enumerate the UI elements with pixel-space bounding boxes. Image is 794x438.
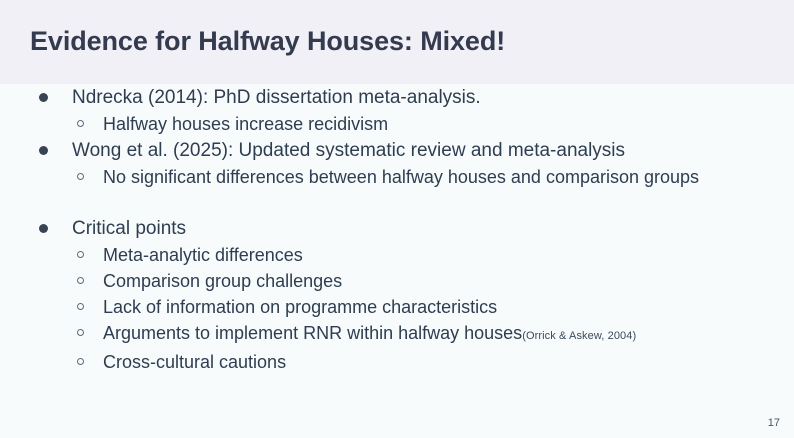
list-item: Critical points Meta-analytic difference… [0, 215, 794, 375]
list-item-label: No significant differences between halfw… [103, 167, 699, 187]
circle-bullet-icon [77, 303, 84, 310]
list-item-label: Arguments to implement RNR within halfwa… [103, 323, 522, 343]
circle-bullet-icon [77, 329, 84, 336]
circle-bullet-icon [77, 277, 84, 284]
page-title: Evidence for Halfway Houses: Mixed! [30, 26, 505, 57]
circle-bullet-icon [77, 358, 84, 365]
bullet-list-level1: Ndrecka (2014): PhD dissertation meta-an… [0, 84, 794, 375]
circle-bullet-icon [77, 173, 84, 180]
slide: Evidence for Halfway Houses: Mixed! Ndre… [0, 0, 794, 438]
list-item-label: Meta-analytic differences [103, 245, 303, 265]
list-item: Cross-cultural cautions [72, 349, 794, 375]
list-item: Halfway houses increase recidivism [72, 111, 794, 137]
bullet-list-level2: Halfway houses increase recidivism [72, 111, 794, 137]
list-item: Ndrecka (2014): PhD dissertation meta-an… [0, 84, 794, 137]
list-item-label: Lack of information on programme charact… [103, 297, 497, 317]
list-item: Comparison group challenges [72, 268, 794, 294]
circle-bullet-icon [77, 251, 84, 258]
list-item: Lack of information on programme charact… [72, 294, 794, 320]
list-item: Wong et al. (2025): Updated systematic r… [0, 137, 794, 190]
disc-bullet-icon [39, 146, 48, 155]
bullet-list-level2: No significant differences between halfw… [72, 164, 794, 190]
list-item-label: Cross-cultural cautions [103, 352, 286, 372]
disc-bullet-icon [39, 224, 48, 233]
list-item: Arguments to implement RNR within halfwa… [72, 320, 794, 349]
list-item-label: Ndrecka (2014): PhD dissertation meta-an… [72, 87, 481, 108]
list-item-label: Critical points [72, 218, 186, 239]
circle-bullet-icon [77, 120, 84, 127]
disc-bullet-icon [39, 93, 48, 102]
list-item: Meta-analytic differences [72, 242, 794, 268]
list-item-label: Wong et al. (2025): Updated systematic r… [72, 140, 625, 161]
bullet-list-level2: Meta-analytic differences Comparison gro… [72, 242, 794, 375]
page-number: 17 [768, 417, 780, 429]
list-item: No significant differences between halfw… [72, 164, 794, 190]
citation-reference: (Orrick & Askew, 2004) [522, 330, 636, 342]
list-item-label: Comparison group challenges [103, 271, 342, 291]
slide-body: Ndrecka (2014): PhD dissertation meta-an… [0, 84, 794, 438]
list-item-label: Halfway houses increase recidivism [103, 114, 388, 134]
section-spacer [0, 190, 794, 215]
